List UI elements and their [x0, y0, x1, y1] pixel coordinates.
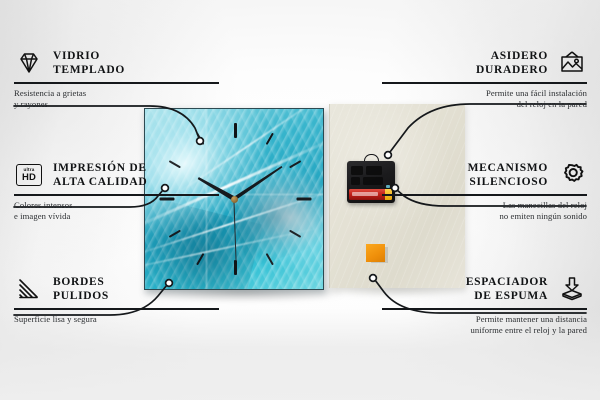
feature-desc-line2: no emiten ningún sonido — [382, 211, 587, 223]
infographic-canvas: VIDRIO TEMPLADO Resistencia a grietas y … — [0, 0, 600, 400]
feature-header: MECANISMO SILENCIOSO — [382, 160, 587, 190]
feature-title-line2: PULIDOS — [53, 289, 109, 303]
clock-tick — [297, 198, 312, 201]
feature-title-line2: DURADERO — [476, 63, 548, 77]
clock-tick — [169, 230, 181, 238]
diamond-icon — [14, 48, 44, 78]
foam-spacer-sample — [366, 244, 385, 262]
ultra-hd-icon: ultra HD — [14, 160, 44, 190]
feature-impresion-alta-calidad: ultra HD IMPRESIÓN DE ALTA CALIDAD Color… — [14, 160, 219, 223]
feature-divider — [14, 308, 219, 310]
feature-desc-line2: del reloj en la pared — [382, 99, 587, 111]
feature-divider — [382, 194, 587, 196]
feature-description: Permite una fácil instalación del reloj … — [382, 88, 587, 111]
feature-description: Permite mantener una distancia uniforme … — [382, 314, 587, 337]
clock-tick — [196, 133, 204, 145]
feature-title: BORDES PULIDOS — [53, 275, 109, 303]
feature-divider — [382, 82, 587, 84]
feature-header: ASIDERO DURADERO — [382, 48, 587, 78]
feature-desc-line1: Permite una fácil instalación — [382, 88, 587, 100]
mechanism-detail-2 — [366, 166, 382, 175]
feature-desc-line1: Colores intensos — [14, 200, 219, 212]
feature-desc-line2: e imagen vívida — [14, 211, 219, 223]
feature-title: ESPACIADOR DE ESPUMA — [466, 275, 548, 303]
feature-desc-line1: Las manecillas del reloj — [382, 200, 587, 212]
feature-divider — [382, 308, 587, 310]
feature-title-line1: BORDES — [53, 275, 109, 289]
feature-description: Las manecillas del reloj no emiten ningú… — [382, 200, 587, 223]
feature-mecanismo-silencioso: MECANISMO SILENCIOSO Las manecillas del … — [382, 160, 587, 223]
clock-tick — [196, 253, 204, 265]
clock-tick — [266, 253, 274, 265]
hd-badge: ultra HD — [16, 164, 42, 186]
clock-tick — [266, 133, 274, 145]
hanging-frame-icon — [557, 48, 587, 78]
feature-desc-line1: Superficie lisa y segura — [14, 314, 219, 326]
feature-desc-line1: Resistencia a grietas — [14, 88, 219, 100]
feature-header: ESPACIADOR DE ESPUMA — [382, 274, 587, 304]
mechanism-detail-4 — [363, 177, 383, 185]
feature-description: Superficie lisa y segura — [14, 314, 219, 326]
feature-desc-line2: y rayones — [14, 99, 219, 111]
clock-center-cap — [231, 196, 238, 203]
foam-spacer-icon — [557, 274, 587, 304]
feature-title-line1: IMPRESIÓN DE — [53, 161, 147, 175]
feature-asidero-duradero: ASIDERO DURADERO Permite una fácil insta… — [382, 48, 587, 111]
feature-title-line1: MECANISMO — [468, 161, 548, 175]
feature-description: Resistencia a grietas y rayones — [14, 88, 219, 111]
feature-title-line2: DE ESPUMA — [466, 289, 548, 303]
feature-espaciador-de-espuma: ESPACIADOR DE ESPUMA Permite mantener un… — [382, 274, 587, 337]
clock-tick — [234, 123, 237, 138]
feature-header: BORDES PULIDOS — [14, 274, 219, 304]
feature-title: ASIDERO DURADERO — [476, 49, 548, 77]
feature-title: MECANISMO SILENCIOSO — [468, 161, 548, 189]
feature-bordes-pulidos: BORDES PULIDOS Superficie lisa y segura — [14, 274, 219, 325]
feature-title: VIDRIO TEMPLADO — [53, 49, 125, 77]
feature-header: VIDRIO TEMPLADO — [14, 48, 219, 78]
hd-badge-main-label: HD — [22, 173, 36, 183]
feature-vidrio-templado: VIDRIO TEMPLADO Resistencia a grietas y … — [14, 48, 219, 111]
feature-title-line2: SILENCIOSO — [468, 175, 548, 189]
feature-divider — [14, 82, 219, 84]
gear-icon — [557, 160, 587, 190]
feature-title-line2: TEMPLADO — [53, 63, 125, 77]
feature-divider — [14, 194, 219, 196]
feature-desc-line2: uniforme entre el reloj y la pared — [382, 325, 587, 337]
feature-title-line1: ASIDERO — [476, 49, 548, 63]
polished-edge-icon — [14, 274, 44, 304]
battery-label — [352, 192, 378, 196]
clock-tick — [289, 230, 301, 238]
mechanism-detail-3 — [351, 177, 360, 185]
feature-header: ultra HD IMPRESIÓN DE ALTA CALIDAD — [14, 160, 219, 190]
feature-title-line1: VIDRIO — [53, 49, 125, 63]
feature-desc-line1: Permite mantener una distancia — [382, 314, 587, 326]
feature-title-line2: ALTA CALIDAD — [53, 175, 147, 189]
clock-tick — [234, 260, 237, 275]
feature-title-line1: ESPACIADOR — [466, 275, 548, 289]
clock-tick — [289, 160, 301, 168]
feature-title: IMPRESIÓN DE ALTA CALIDAD — [53, 161, 147, 189]
feature-description: Colores intensos e imagen vívida — [14, 200, 219, 223]
mechanism-detail-1 — [351, 166, 363, 175]
